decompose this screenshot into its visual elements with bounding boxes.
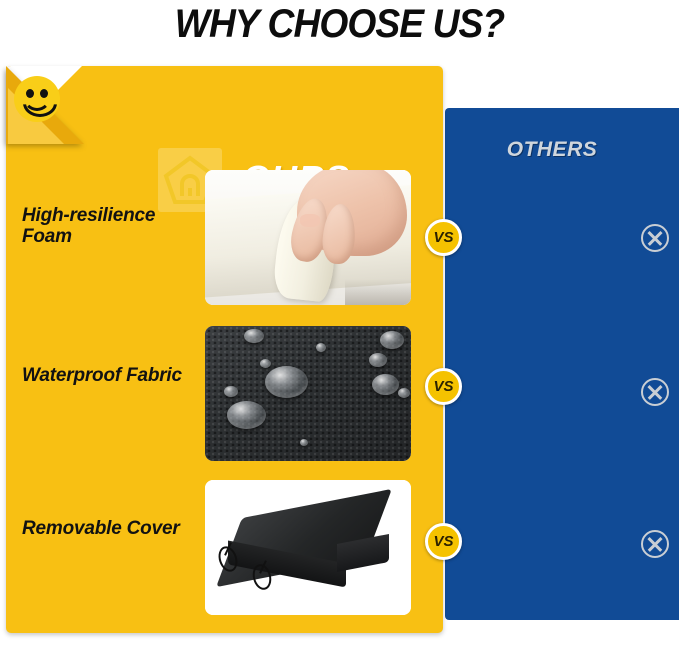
smiley-face-icon (14, 76, 60, 122)
page-title: WHY CHOOSE US? (24, 2, 655, 47)
ours-photo-waterproof-fabric (205, 326, 411, 461)
circle-x-icon (641, 530, 669, 558)
ours-photo-removable-cover (205, 480, 411, 615)
ours-photo-resilient-foam (205, 170, 411, 305)
vs-badge: VS (425, 523, 462, 560)
vs-badge: VS (425, 368, 462, 405)
feature-label-fabric: Waterproof Fabric (22, 365, 202, 386)
others-heading: OTHERS (445, 138, 659, 162)
circle-x-icon (641, 224, 669, 252)
vs-badge: VS (425, 219, 462, 256)
circle-x-icon (641, 378, 669, 406)
black-cushion-image (205, 480, 411, 615)
feature-label-foam: High-resilience Foam (22, 205, 202, 248)
feature-label-cover: Removable Cover (22, 518, 202, 539)
infographic-root: WHY CHOOSE US? OTHERS (0, 0, 679, 662)
waterproof-fabric-image (205, 326, 411, 461)
foam-squeeze-image (205, 170, 411, 305)
